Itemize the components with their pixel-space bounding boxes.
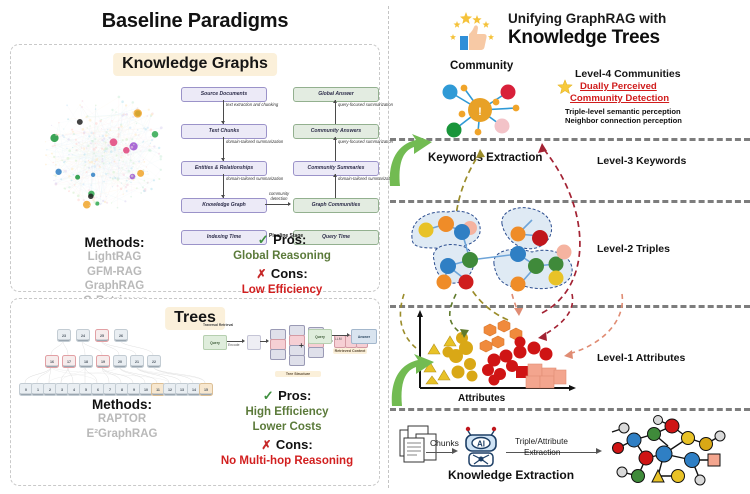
kg-cons-heading: Cons: bbox=[271, 266, 308, 281]
pipeline-edge-label-line1: query-focused summarization bbox=[338, 102, 393, 107]
kg-pros-heading-row: ✓ Pros: bbox=[207, 231, 357, 249]
trees-method-item: E²GraphRAG bbox=[47, 427, 197, 442]
knowledge-graphs-title: Knowledge Graphs bbox=[113, 53, 277, 76]
tree-node: 25 bbox=[95, 329, 109, 342]
pipeline-box-text-chunks: Text Chunks bbox=[181, 124, 267, 139]
right-column: Unifying GraphRAG with Knowledge Trees L… bbox=[390, 0, 750, 494]
retrieval-encode-label: Encode bbox=[228, 343, 240, 347]
trees-cons-heading: Cons: bbox=[276, 437, 313, 452]
pipeline-arrow bbox=[221, 195, 225, 198]
knowledge-graphs-panel: Knowledge Graphs Source Documents Text C… bbox=[10, 44, 380, 292]
extracted-knowledge-graph bbox=[602, 414, 732, 490]
graphrag-pipeline-diagram: Source Documents Text Chunks Entities & … bbox=[181, 87, 377, 217]
pipeline-cross-edge-label: community detection bbox=[265, 192, 293, 202]
left-column: Baseline Paradigms Knowledge Graphs Sour… bbox=[0, 0, 390, 494]
right-title-line2: Knowledge Trees bbox=[508, 27, 660, 49]
retrieval-arrow-line bbox=[332, 335, 348, 336]
pipeline-box-entities-relationships: Entities & Relationships bbox=[181, 161, 267, 176]
tree-node: 21 bbox=[130, 355, 144, 368]
pipeline-edge-label: domain-tailored summarization bbox=[226, 177, 283, 182]
pipeline-arrow bbox=[333, 137, 337, 140]
green-arrow-up-extraction-icon bbox=[384, 352, 438, 408]
perception-bullet-2: Neighbor connection perception bbox=[565, 116, 682, 125]
trees-cons-heading-row: ✗ Cons: bbox=[207, 436, 367, 454]
retrieval-query-box: Query bbox=[203, 335, 227, 350]
pipeline-arrow bbox=[221, 158, 225, 161]
thumbs-up-stars-icon bbox=[444, 10, 504, 52]
tree-node: 19 bbox=[96, 355, 110, 368]
kg-method-item: LightRAG bbox=[47, 250, 182, 265]
tree-node: 16 bbox=[45, 355, 59, 368]
pipeline-edge bbox=[335, 137, 336, 161]
level-3-label: Level-3 Keywords bbox=[597, 155, 686, 167]
retrieval-arrow bbox=[242, 339, 245, 343]
kg-cons-item: Low Efficiency bbox=[207, 283, 357, 298]
right-title-block: Unifying GraphRAG with Knowledge Trees bbox=[390, 6, 750, 54]
kg-pros-item: Global Reasoning bbox=[207, 249, 357, 264]
kg-method-item: GFM-RAG bbox=[47, 265, 182, 280]
trees-pros-heading-row: ✓ Pros: bbox=[207, 387, 367, 405]
tree-node: 26 bbox=[114, 329, 128, 342]
dually-perceived-line1: Dually Perceived bbox=[580, 81, 657, 92]
attributes-axis-label: Attributes bbox=[458, 393, 505, 404]
pipeline-edge-label: text extraction and chunking bbox=[226, 103, 278, 108]
dually-perceived-line2: Community Detection bbox=[570, 93, 669, 104]
pipeline-arrow bbox=[333, 174, 337, 177]
left-panel-title: Baseline Paradigms bbox=[0, 10, 390, 33]
level-4-label: Level-4 Communities bbox=[575, 68, 681, 80]
kg-methods-heading: Methods: bbox=[47, 235, 182, 250]
plus-sign: + bbox=[299, 341, 304, 350]
triples-cluster-graph bbox=[404, 202, 594, 302]
pipeline-arrow bbox=[221, 121, 225, 124]
triple-attribute-extraction-line1: Triple/Attribute bbox=[515, 437, 568, 446]
knowledge-graph-visualization bbox=[29, 81, 181, 223]
tree-stack-cell bbox=[289, 355, 305, 366]
retrieval-chain-tail: + bbox=[299, 335, 304, 353]
llm-label: LLM bbox=[335, 337, 342, 341]
trees-pros-item: High Efficiency bbox=[207, 405, 367, 420]
retrieved-context-label: Retrieved Context bbox=[333, 348, 367, 354]
pipeline-edge-label: domain-tailored summarization bbox=[226, 140, 283, 145]
tree-node: 17 bbox=[62, 355, 76, 368]
kg-cons-heading-row: ✗ Cons: bbox=[207, 265, 357, 283]
chunks-arrow bbox=[452, 448, 458, 454]
retrieval-answer-box: Answer bbox=[351, 329, 377, 344]
figure-root: Baseline Paradigms Knowledge Graphs Sour… bbox=[0, 0, 750, 494]
pipeline-box-graph-communities: Graph Communities bbox=[293, 198, 379, 213]
trees-cons-item: No Multi-hop Reasoning bbox=[207, 454, 367, 469]
svg-text:!: ! bbox=[478, 106, 482, 118]
trees-methods-block: Methods: RAPTOR E²GraphRAG bbox=[47, 397, 197, 441]
check-icon: ✓ bbox=[263, 388, 274, 403]
pipeline-edge bbox=[335, 100, 336, 124]
check-icon: ✓ bbox=[258, 232, 269, 247]
tree-node: 18 bbox=[79, 355, 93, 368]
trees-pros-cons-block: ✓ Pros: High Efficiency Lower Costs ✗ Co… bbox=[207, 387, 367, 469]
community-label: Community bbox=[450, 60, 513, 72]
column-divider bbox=[388, 6, 389, 488]
kg-pros-heading: Pros: bbox=[273, 232, 306, 247]
pipeline-edge-label-line1: domain-tailored summarization bbox=[226, 176, 283, 181]
ai-robot-icon: AI bbox=[460, 424, 502, 468]
level-2-label: Level-2 Triples bbox=[597, 243, 670, 255]
kg-method-item: GraphRAG bbox=[47, 279, 182, 294]
pipeline-box-knowledge-graph: Knowledge Graph bbox=[181, 198, 267, 213]
pipeline-edge-label: query-focused summarization bbox=[338, 103, 393, 108]
right-title-line1: Unifying GraphRAG with bbox=[508, 11, 666, 26]
tree-node: 24 bbox=[76, 329, 90, 342]
trees-pros-item: Lower Costs bbox=[207, 420, 367, 435]
community-graph: ! bbox=[428, 78, 538, 140]
pipeline-edge-label-line1: domain-tailored summarization bbox=[226, 139, 283, 144]
chunks-label: Chunks bbox=[430, 438, 459, 448]
trees-panel: Trees 2324252616171819202122012345678910… bbox=[10, 298, 380, 486]
pipeline-box-source-documents: Source Documents bbox=[181, 87, 267, 102]
tree-stack-cell bbox=[270, 349, 286, 360]
retrieval-arrow-line bbox=[227, 341, 243, 342]
svg-text:AI: AI bbox=[477, 440, 485, 449]
pipeline-arrow bbox=[288, 202, 291, 206]
retrieval-arrow bbox=[266, 339, 269, 343]
chunks-arrow-line bbox=[426, 452, 454, 453]
tree-structure-label: Tree Structure bbox=[275, 371, 321, 377]
pipeline-edge-label-line1: text extraction and chunking bbox=[226, 102, 278, 107]
tree-node: 23 bbox=[57, 329, 71, 342]
pipeline-arrow bbox=[333, 100, 337, 103]
knowledge-extraction-label: Knowledge Extraction bbox=[448, 468, 574, 482]
trees-method-item: RAPTOR bbox=[47, 412, 197, 427]
tree-structure-diagram: 2324252616171819202122012345678910111213… bbox=[19, 327, 207, 401]
cross-icon: ✗ bbox=[256, 267, 266, 281]
keywords-extraction-label: Keywords Extraction bbox=[428, 152, 542, 164]
green-arrow-up-keywords-icon bbox=[382, 132, 436, 188]
perception-bullet-1: Triple-level semantic perception bbox=[565, 107, 681, 116]
cross-icon: ✗ bbox=[261, 438, 271, 452]
tree-node: 20 bbox=[113, 355, 127, 368]
retrieval-embedding-box bbox=[247, 335, 261, 350]
level-1-label: Level-1 Attributes bbox=[597, 352, 685, 364]
tree-stack-cell bbox=[308, 347, 324, 358]
tree-node: 22 bbox=[147, 355, 161, 368]
trees-pros-heading: Pros: bbox=[278, 388, 311, 403]
traversal-retrieval-label: Traversal Retrieval bbox=[203, 323, 233, 327]
retrieval-arrow bbox=[347, 333, 350, 337]
triple-attribute-extraction-line2: Extraction bbox=[524, 448, 560, 457]
level-divider-1-extraction bbox=[390, 408, 750, 411]
trees-methods-heading: Methods: bbox=[47, 397, 197, 412]
retrieval-query-box-2: Query bbox=[308, 329, 332, 344]
pipeline-cross-edge bbox=[265, 204, 290, 205]
pipeline-edge bbox=[335, 174, 336, 198]
